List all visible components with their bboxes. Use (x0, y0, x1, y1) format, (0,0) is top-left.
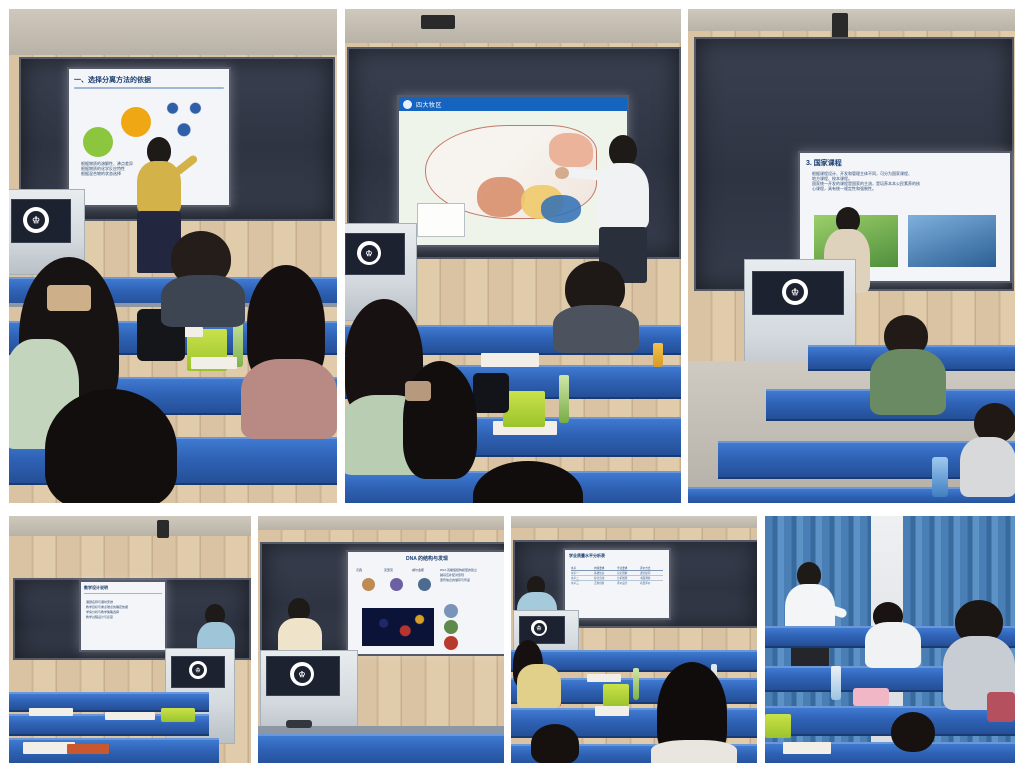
hair-clip-panel-1 (47, 285, 91, 311)
books-colored-panel-4 (67, 744, 109, 754)
books-panel-6 (595, 706, 629, 716)
scientist-label-3-panel-5: 威尔金斯 (412, 568, 424, 572)
dark-backpack-panel-2 (473, 373, 509, 413)
school-emblem-panel-6: ♔ (531, 620, 547, 636)
school-emblem-panel-4: ♔ (189, 661, 207, 679)
presenter-hand-panel-2 (555, 167, 569, 179)
water-bottle-2-panel-2 (653, 343, 663, 367)
table-cell-panel-6: 水平一 (571, 571, 594, 575)
cell-image-1-panel-5 (444, 604, 458, 618)
slide-body-line-4-panel-3: 心课程，具有统一规定性和强制性。 (812, 186, 1002, 191)
ceiling-panel-3 (688, 9, 1015, 31)
audience-body-1-panel-2 (553, 305, 639, 353)
table-cell-panel-6: 项目评价 (640, 581, 663, 585)
table-cell-panel-6: 课堂提问 (640, 571, 663, 575)
papers-2-panel-4 (105, 712, 155, 720)
slide-image-right-panel-3 (908, 215, 996, 267)
scientist-portrait-2-panel-5 (390, 578, 403, 591)
slide-molecule-icon (165, 101, 203, 137)
audience-head-3-panel-6 (531, 724, 579, 763)
audience-head-4-panel-1 (45, 389, 177, 503)
snacks-panel-7 (853, 688, 889, 706)
slide-header-icon-panel-2 (403, 100, 412, 109)
water-bottle-panel-7 (831, 666, 841, 700)
slide-header-bar-panel-2: 四大牧区 (399, 97, 627, 111)
audience-body-1-panel-6 (517, 664, 561, 708)
map-region-southwest-panel-2 (477, 177, 525, 217)
desk-row-3-panel-7 (765, 706, 1015, 736)
table-header-2-panel-6: 内容要求 (594, 566, 617, 570)
table-cell-panel-6: 分析推理 (617, 576, 640, 580)
photo-panel-3: 3. 国家课程 根据课程设计、开发和管理主体不同，可分为国家课程、 地方课程、校… (688, 9, 1015, 503)
table-cell-panel-6: 书面测验 (640, 576, 663, 580)
notebook-panel-1 (191, 357, 237, 369)
projector-panel-4 (157, 520, 169, 538)
green-bag-panel-6 (603, 684, 629, 706)
green-bag-panel-4 (161, 708, 195, 722)
slide-body-line-4-panel-4: 教学过程设计与反思 (86, 615, 161, 620)
ceiling-panel-4 (9, 516, 251, 536)
projection-screen-panel-4: 教学设计说明 课题名称与课时安排 教学目标与重点难点的确定依据 学情分析与教学策… (79, 580, 167, 652)
slide-header-title-panel-2: 四大牧区 (416, 100, 442, 109)
ceiling-panel-1 (9, 9, 337, 55)
photo-collage: 一、选择分离方法的依据 根据物质的溶解性、沸点差异 根据物质的化学反应特性 根据… (0, 0, 1024, 767)
scientist-label-1-panel-5: 沃森 (356, 568, 362, 572)
green-bag-panel-7 (765, 714, 791, 738)
water-bottle-panel-3 (932, 457, 948, 497)
photo-panel-7 (765, 516, 1015, 763)
slide-title-panel-3: 3. 国家课程 (806, 158, 1004, 168)
hair-clip-2-panel-2 (405, 381, 431, 401)
audience-body-3-panel-1 (241, 359, 337, 439)
photo-panel-1: 一、选择分离方法的依据 根据物质的溶解性、沸点差异 根据物质的化学反应特性 根据… (9, 9, 337, 503)
photo-panel-5: DNA 的结构与发现 沃森 克里克 威尔金斯 DNA 双螺旋结构模型的建立 碱基… (258, 516, 504, 763)
dna-diagram-panel-5 (362, 608, 434, 646)
scientist-portrait-1-panel-5 (362, 578, 375, 591)
slide-table-panel-6: 水平 内容要求 学业要求 评价方式 水平一 基础知识 识记理解 课堂提问 水平二… (571, 566, 663, 600)
table-cell-panel-6: 迁移创新 (594, 581, 617, 585)
audience-head-3-panel-2 (403, 361, 477, 479)
map-region-southeast-panel-2 (541, 195, 581, 223)
water-bottle-panel-2 (559, 375, 569, 423)
ceiling-panel-5 (258, 516, 504, 530)
slide-title-panel-4: 教学设计说明 (84, 585, 162, 591)
school-emblem-panel-5: ♔ (290, 662, 314, 686)
photo-panel-4: 教学设计说明 课题名称与课时安排 教学目标与重点难点的确定依据 学情分析与教学策… (9, 516, 251, 763)
slide-divider-panel-4 (84, 593, 162, 594)
audience-body-1-panel-3 (870, 349, 946, 415)
table-header-3-panel-6: 学业要求 (617, 566, 640, 570)
papers-1-panel-4 (29, 708, 73, 716)
audience-head-3-panel-7 (891, 712, 935, 752)
cell-image-3-panel-5 (444, 636, 458, 650)
audience-body-1-panel-7 (865, 622, 921, 668)
scientist-label-2-panel-5: 克里克 (384, 568, 393, 572)
cables-panel-5 (286, 720, 312, 728)
scientist-portrait-3-panel-5 (418, 578, 431, 591)
notebook-panel-7 (783, 742, 831, 754)
table-cell-panel-6: 基础知识 (594, 571, 617, 575)
slide-bullet-3-panel-5: 遗传信息的储存与传递 (440, 578, 503, 583)
green-shopping-bag-panel-2 (503, 391, 545, 427)
table-cell-panel-6: 综合应用 (594, 576, 617, 580)
papers-panel-2 (481, 353, 539, 367)
table-cell-panel-6: 评价设计 (617, 581, 640, 585)
photo-panel-6: 学业质量水平分析表 水平 内容要求 学业要求 评价方式 水平一 基础知识 识记理… (511, 516, 757, 763)
audience-body-2-panel-1 (161, 275, 245, 327)
ceiling-panel-6 (511, 516, 757, 528)
table-row-panel-6: 水平三 迁移创新 评价设计 项目评价 (571, 581, 663, 585)
school-emblem-panel-1: ♔ (23, 207, 49, 233)
table-cell-panel-6: 识记理解 (617, 571, 640, 575)
slide-balloon-orange (121, 107, 151, 137)
table-cell-panel-6: 水平三 (571, 581, 594, 585)
projector-panel-2 (421, 15, 455, 29)
ceiling-panel-2 (345, 9, 681, 43)
table-cell-panel-6: 水平二 (571, 576, 594, 580)
interactive-screen-panel-5: DNA 的结构与发现 沃森 克里克 威尔金斯 DNA 双螺旋结构模型的建立 碱基… (346, 550, 504, 656)
slide-title-panel-5: DNA 的结构与发现 (348, 555, 504, 562)
audience-body-2-panel-3 (960, 437, 1015, 497)
handbag-panel-7 (987, 692, 1015, 722)
slide-balloon-green (83, 127, 113, 157)
slide-title-panel-6: 学业质量水平分析表 (569, 553, 605, 559)
slide-title-panel-1: 一、选择分离方法的依据 (74, 75, 224, 85)
cell-image-2-panel-5 (444, 620, 458, 634)
desk-row-1-panel-5 (258, 734, 504, 763)
map-legend-panel-2 (417, 203, 465, 237)
photo-panel-2: 四大牧区 ♔ (345, 9, 681, 503)
table-header-1-panel-6: 水平 (571, 566, 594, 570)
water-bottle-1-panel-6 (633, 668, 639, 700)
school-emblem-panel-2: ♔ (357, 241, 381, 265)
papers-panel-6 (587, 674, 621, 682)
school-emblem-panel-3: ♔ (782, 279, 808, 305)
slide-divider-panel-1 (74, 87, 224, 89)
table-header-4-panel-6: 评价方式 (640, 566, 663, 570)
audience-body-2-panel-6 (651, 740, 737, 763)
projection-screen-panel-6: 学业质量水平分析表 水平 内容要求 学业要求 评价方式 水平一 基础知识 识记理… (563, 548, 671, 620)
